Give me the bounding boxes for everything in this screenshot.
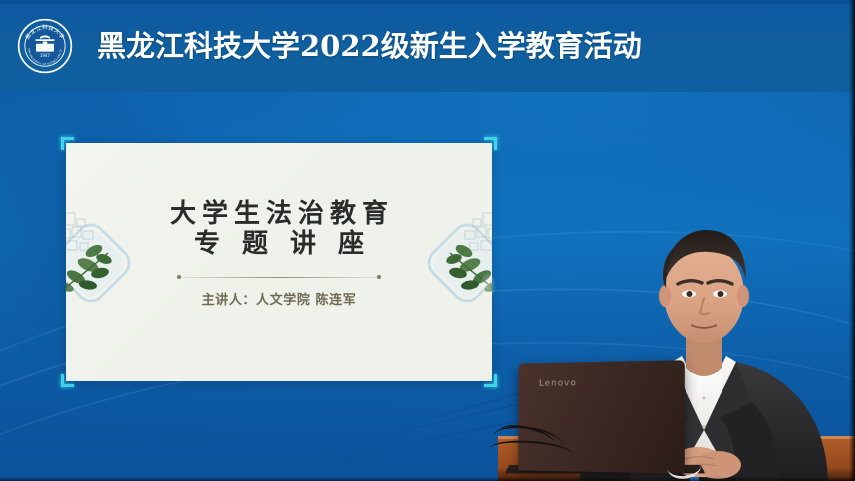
lenovo-logo: Lenovo: [539, 378, 577, 388]
university-emblem: 1947 黑龙江科技大学 HEILONGJIANG UNIVERSITY OF …: [17, 18, 73, 74]
slide-title-line-2: 专题讲座: [66, 229, 492, 259]
slide-corner-accent-top-right: [484, 137, 497, 150]
slide-corner-accent-bottom-right: [484, 374, 497, 387]
laptop: Lenovo: [505, 362, 695, 481]
slide-text-block: 大学生法治教育 专题讲座 主讲人：人文学院 陈连军: [66, 199, 492, 308]
page-title: 黑龙江科技大学2022级新生入学教育活动: [97, 32, 642, 61]
frame-edge-right: [849, 0, 855, 481]
slide-presenter-text: 主讲人：人文学院 陈连军: [66, 289, 492, 308]
slide-surface: 大学生法治教育 专题讲座 主讲人：人文学院 陈连军: [66, 143, 492, 381]
frame-edge-bottom: [0, 477, 855, 481]
slide-title-line-1: 大学生法治教育: [66, 199, 492, 229]
university-emblem-icon: 1947 黑龙江科技大学 HEILONGJIANG UNIVERSITY OF …: [17, 18, 73, 74]
slide-glare: [480, 271, 496, 299]
divider-dot-left: [177, 275, 181, 279]
slide-divider: [179, 277, 379, 278]
video-frame: Lenovo: [0, 0, 855, 481]
svg-text:1947: 1947: [40, 53, 50, 58]
divider-dot-right: [377, 275, 381, 279]
presentation-slide[interactable]: 大学生法治教育 专题讲座 主讲人：人文学院 陈连军: [66, 143, 492, 381]
event-header-bar: 1947 黑龙江科技大学 HEILONGJIANG UNIVERSITY OF …: [0, 0, 855, 92]
slide-corner-accent-top-left: [61, 137, 74, 150]
slide-corner-accent-bottom-left: [61, 374, 74, 387]
